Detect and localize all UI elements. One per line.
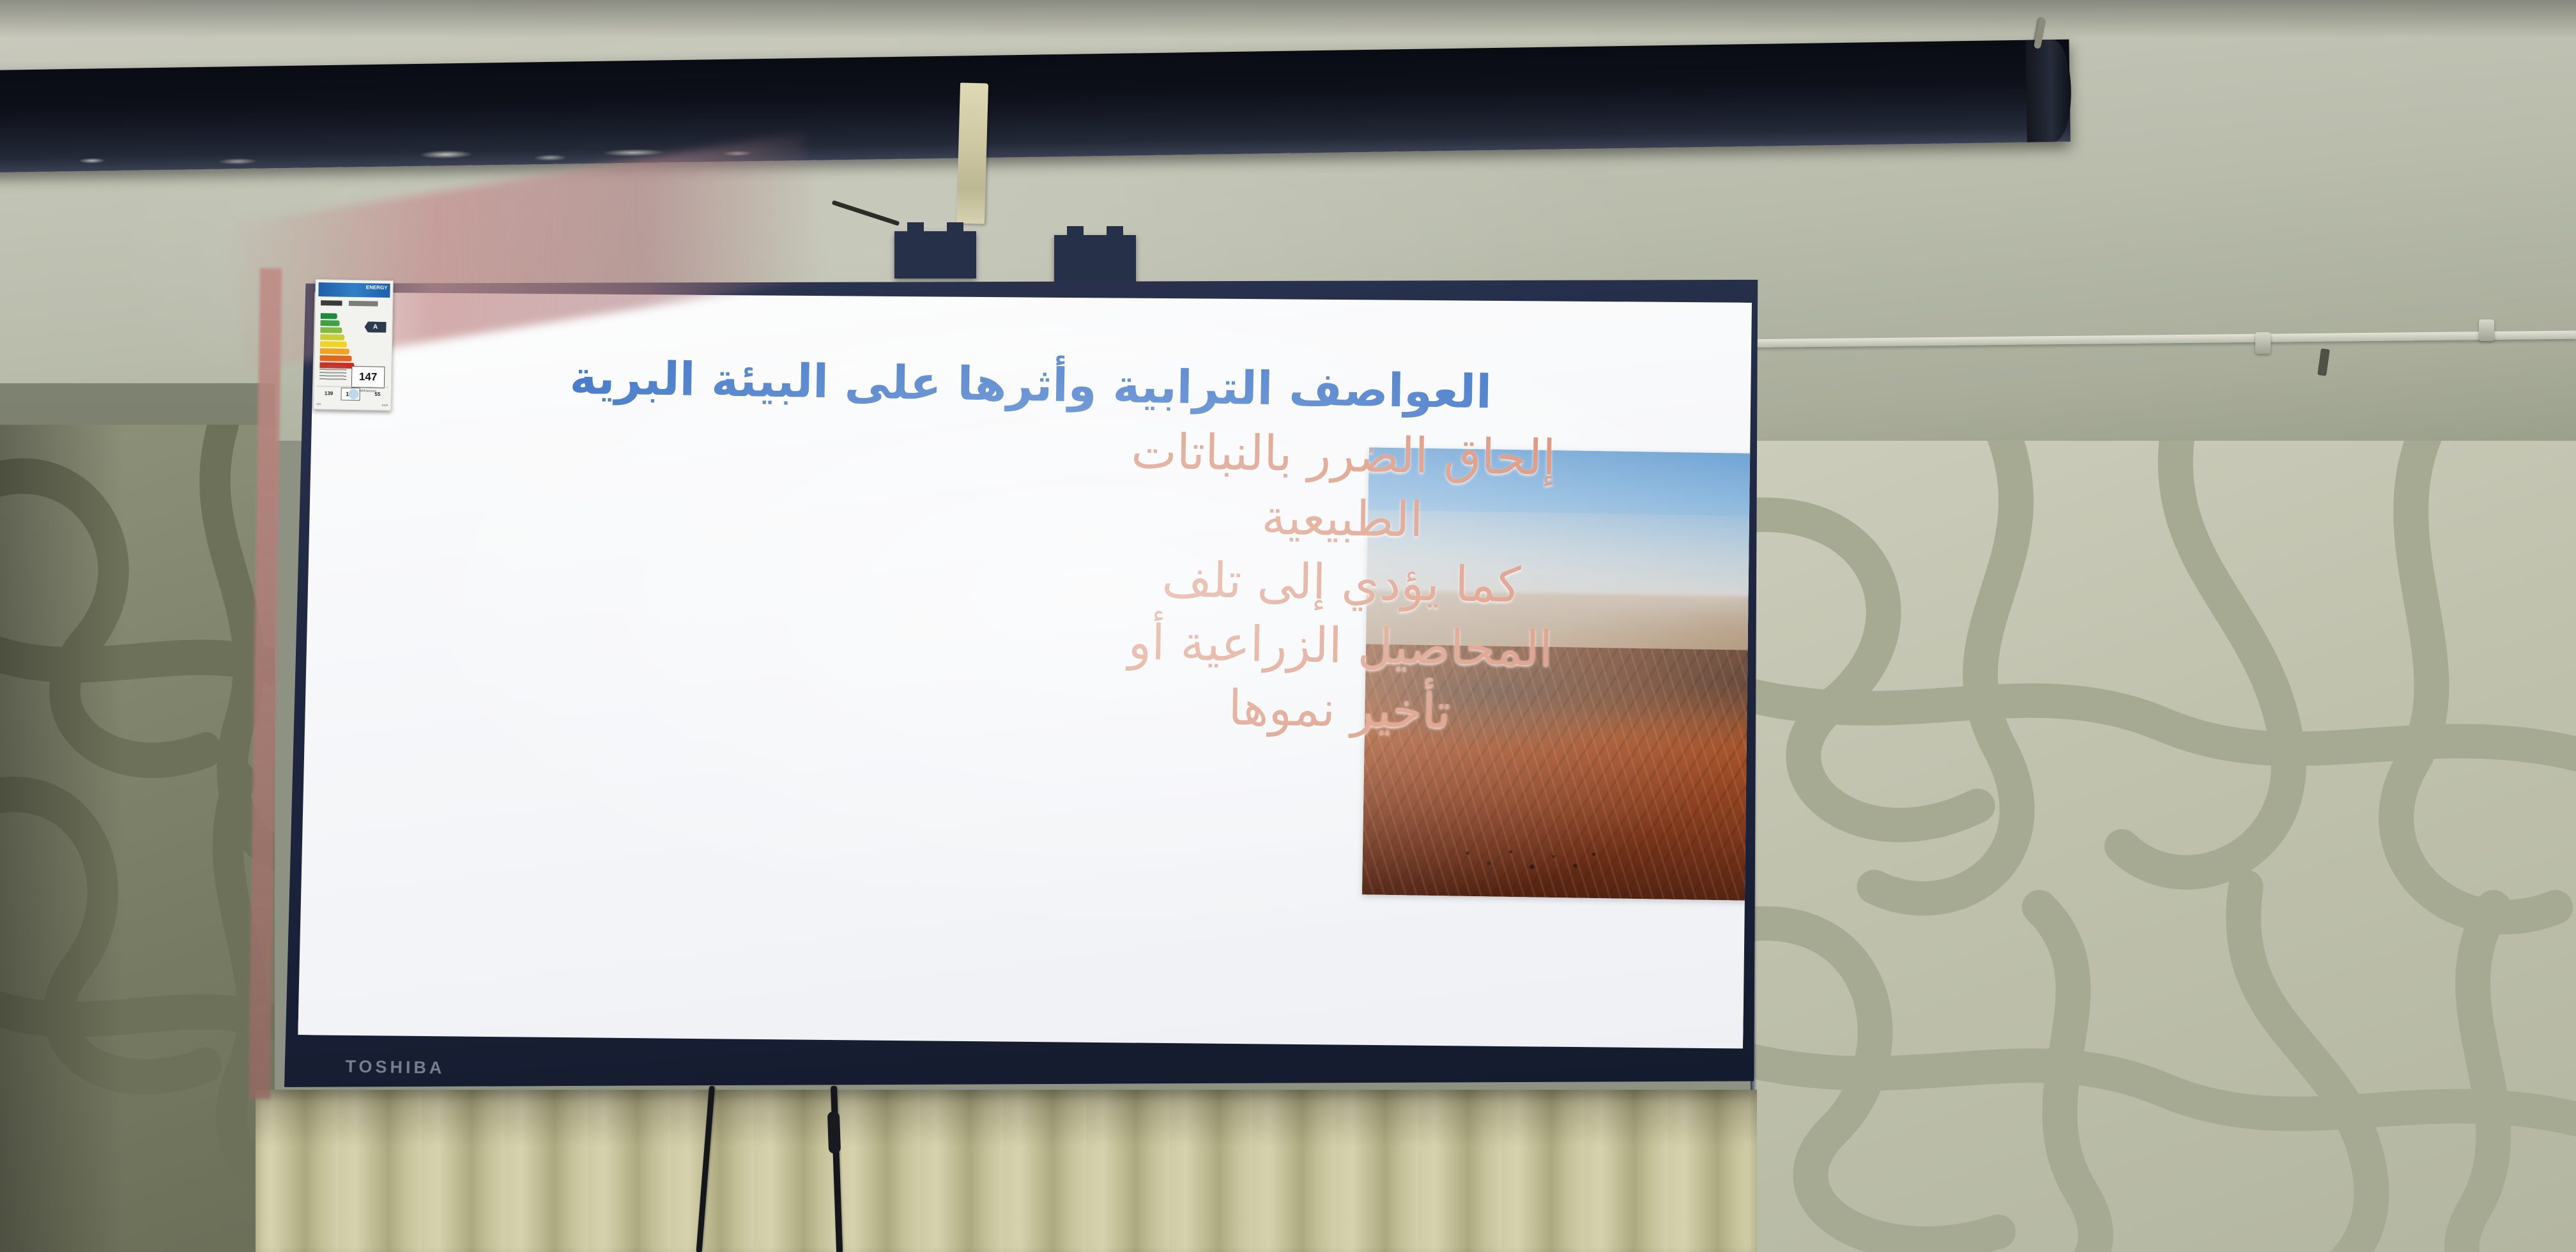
- energy-bar: [320, 355, 352, 362]
- tv-brand-logo: TOSHIBA: [345, 1057, 445, 1078]
- body-line: إلحاق الضرر بالنباتات: [1011, 419, 1676, 491]
- window-curtains: [256, 1090, 1757, 1252]
- conduit-clip: [2479, 319, 2494, 341]
- energy-class-bars: [319, 313, 356, 370]
- body-line: كما يؤدي إلى تلف: [1009, 546, 1674, 618]
- wall-mounted-television[interactable]: العواصف الترابية وأثرها على البيئة البري…: [284, 257, 1767, 1110]
- body-line: تأخير نموها: [1007, 674, 1672, 745]
- energy-class-badge: A: [364, 321, 386, 333]
- diagonal-value: 55: [374, 392, 380, 397]
- arabesque-screen-panel-left: [0, 425, 275, 1252]
- body-line: الطبيعية: [1009, 482, 1675, 554]
- energy-label-header: ENERGY: [318, 282, 390, 298]
- size-unit-label: cm: [316, 402, 321, 406]
- ceiling-shadow: [0, 0, 2576, 38]
- conduit-clip: [2255, 332, 2271, 354]
- energy-class-letter: A: [373, 324, 378, 331]
- energy-label-footer: 139 55: [316, 386, 388, 401]
- arabesque-pattern-icon: [1751, 441, 2576, 1252]
- screen-size-value: 139: [325, 390, 333, 396]
- village-cluster: [1452, 841, 1607, 883]
- tv-screen[interactable]: العواصف الترابية وأثرها على البيئة البري…: [298, 280, 1754, 1057]
- screen-icon: [349, 388, 359, 399]
- energy-rating-sticker: ENERGY A 101 147 kWh/annum 139 55 cm inc…: [313, 279, 394, 411]
- energy-label-title: ENERGY: [366, 284, 388, 291]
- annual-consumption-box: 147: [351, 366, 385, 388]
- classroom-scene: العواصف الترابية وأثرها على البيئة البري…: [0, 0, 2576, 1252]
- arabesque-pattern-icon: [0, 425, 275, 1252]
- slide-body-text: إلحاق الضرر بالنباتات الطبيعية كما يؤدي …: [1007, 419, 1676, 748]
- presentation-slide: العواصف الترابية وأثرها على البيئة البري…: [298, 280, 1754, 1057]
- energy-bar: [320, 341, 347, 347]
- slide-title: العواصف الترابية وأثرها على البيئة البري…: [308, 346, 1754, 423]
- masking-tape-strip: [956, 82, 988, 224]
- pipe-end-cap: [2025, 40, 2071, 142]
- energy-bar: [320, 327, 342, 333]
- cable-tie: [827, 1111, 841, 1154]
- energy-label-brand-row: [321, 300, 387, 307]
- arabesque-screen-panel-right: [1751, 441, 2576, 1252]
- diagonal-unit-label: inch: [382, 404, 388, 408]
- energy-bar: [321, 320, 340, 326]
- energy-bar: [320, 334, 344, 340]
- energy-label-text-block: [319, 365, 347, 385]
- energy-label-regulation-row: cm inch: [316, 401, 388, 409]
- energy-bar: [321, 313, 337, 319]
- energy-bar: [320, 348, 349, 355]
- body-line: المحاصيل الزراعية أو: [1008, 610, 1673, 682]
